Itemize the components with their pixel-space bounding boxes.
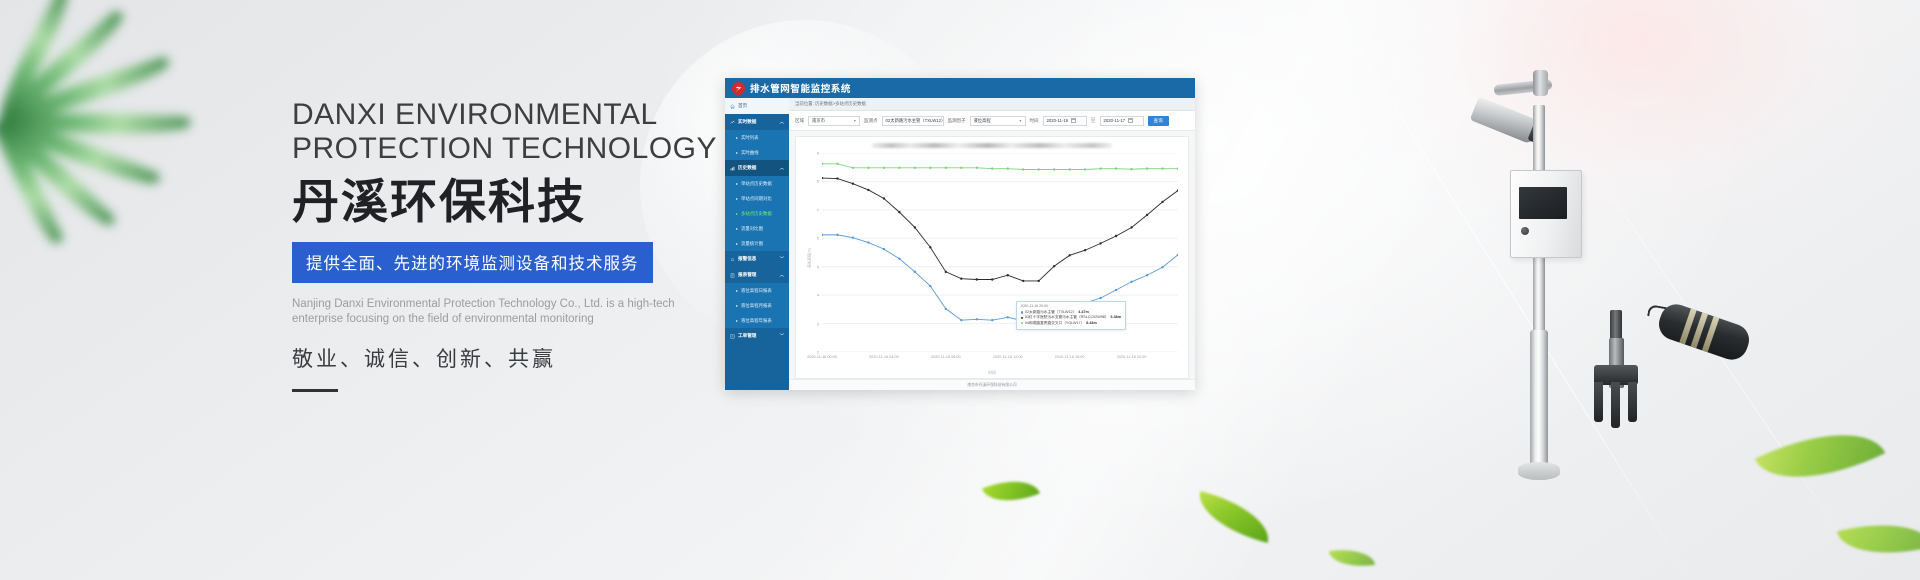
company-logo-icon [732,82,745,95]
chart-data-point [1161,266,1163,268]
chart-data-point [836,177,838,179]
chart-data-point [1068,254,1070,256]
series-color-dot [1021,311,1023,313]
sidebar-item-label: 多站点历史数据 [741,211,772,217]
sidebar-item-label: 流量统计图 [741,241,763,247]
bullet-icon [736,213,738,215]
mounting-pole-lower [1530,330,1548,480]
search-button[interactable]: 查询 [1148,116,1169,126]
chart-data-point [1177,167,1178,169]
chart-data-point [836,163,838,165]
chart-data-point [898,258,900,260]
app-footer: 南京市丹溪环保科技有限公司 [789,379,1195,390]
chart-data-point [867,189,869,191]
bullet-icon [736,243,738,245]
sidebar-group-label: 报警信息 [738,256,756,262]
chart-x-tick-label: 2020-11-16 00:00 [807,355,837,359]
bullet-icon [736,290,738,292]
cabinet-screen [1519,187,1567,219]
chart-x-axis-title: 时间 [988,371,996,376]
chevron-down-icon: ﹀ [780,256,784,262]
chart-tooltip: 2020-11-16 20:00 02太新路污水主管（TXLW12） 4.47m… [1016,301,1126,330]
chart-data-point [822,177,823,179]
sidebar-group-label: 报表管理 [738,272,756,278]
bullet-icon [736,152,738,154]
chart-y-tick-label: 5 [817,264,819,269]
chart-y-axis-title: 液位高程(m) [807,248,812,268]
chart-card: 液位高程(m) 时间 987654322020-11-16 00:002020-… [795,136,1189,379]
chart-series-line [822,164,1178,170]
chart-data-point [1130,226,1132,228]
app-header: 排水管网智能监控系统 [725,78,1195,98]
sidebar-item-flow-compare[interactable]: 流量对比图 [725,221,789,236]
sidebar-group-report[interactable]: 报表管理 ︿ [725,267,789,283]
sidebar-item-realtime-list[interactable]: 实时列表 [725,130,789,145]
series-color-dot [1021,322,1023,324]
sidebar-item-label: 首页 [738,103,747,109]
chart-data-point [1084,168,1086,170]
chart-data-point [1053,168,1055,170]
chevron-down-icon: ▾ [1019,118,1021,123]
tooltip-series-name: 04和燕路富贵路交叉口（YGLW17） [1025,321,1084,326]
hero-en-title-line1: DANXI ENVIRONMENTAL [292,98,712,132]
chart-data-point [976,167,978,169]
chart-y-tick-label: 2 [817,350,819,355]
sidebar: 首页 实时数据 ︿ 实时列表 实时曲线 [725,98,789,390]
chart-data-point [852,183,854,185]
hero-text-block: DANXI ENVIRONMENTAL PROTECTION TECHNOLOG… [292,98,712,392]
chart-data-point [1037,280,1039,282]
chart-data-point [1146,214,1148,216]
sidebar-item-label: 单站点同期对比 [741,196,772,202]
chart-y-tick-label: 9 [817,151,819,156]
calendar-icon [1128,118,1133,123]
date-start-input[interactable]: 2020-11-16 [1043,116,1087,126]
chart-series-line [822,178,1178,281]
chart-x-tick-label: 2020-11-16 20:00 [1117,355,1147,359]
chart-y-tick-label: 7 [817,207,819,212]
factor-label: 监测因子 [948,118,966,124]
date-separator: 至 [1091,117,1096,124]
chart-data-point [914,226,916,228]
multiparameter-probe-icon [1588,310,1644,430]
chart-data-point [945,308,947,310]
hero-cn-title: 丹溪环保科技 [292,174,712,230]
chart-data-point [1022,280,1024,282]
cabinet-knob [1521,227,1529,235]
chart-data-point [1007,274,1009,276]
level-sensor-icon [1655,300,1754,364]
sidebar-group-label: 工单管理 [738,333,756,339]
sidebar-item-single-site-compare[interactable]: 单站点同期对比 [725,191,789,206]
factor-select[interactable]: 液位高程 ▾ [970,116,1026,126]
chart-data-point [1146,167,1148,169]
chart-data-point [929,246,931,248]
chart-data-point [883,167,885,169]
chart-data-point [945,167,947,169]
sidebar-group-history[interactable]: 历史数据 ︿ [725,160,789,176]
sidebar-item-label: 流量对比图 [741,226,763,232]
chart-data-point [991,167,993,169]
breadcrumb: 当前位置: 历史数据>多站点历史数据 [789,98,1195,111]
region-select[interactable]: 南京市 ▾ [808,116,860,126]
chart-data-point [1053,265,1055,267]
chart-data-point [929,285,931,287]
sidebar-group-label: 实时数据 [738,119,756,125]
chevron-up-icon: ︿ [780,272,784,278]
chart-data-point [1037,168,1039,170]
chart-data-point [914,167,916,169]
chart-data-point [1099,167,1101,169]
chart-data-point [929,167,931,169]
tooltip-row: 04和燕路富贵路交叉口（YGLW17） 8.43m [1021,321,1121,326]
chart-data-point [1099,242,1101,244]
chart-data-point [1115,235,1117,237]
chart-data-point [898,167,900,169]
monitoring-equipment-photo [1480,30,1910,490]
hero-motto: 敬业、诚信、创新、共赢 [292,343,712,373]
sidebar-item-label: 液位高程年报表 [741,318,772,324]
monitoring-system-window: 排水管网智能监控系统 首页 实时数据 ︿ 实时列表 [725,78,1195,390]
sidebar-item-label: 液位高程日报表 [741,288,772,294]
calendar-icon [1071,118,1076,123]
chart-x-tick-label: 2020-11-16 08:00 [931,355,961,359]
sidebar-group-realtime[interactable]: 实时数据 ︿ [725,114,789,130]
time-label: 时间 [1030,118,1039,124]
chevron-down-icon: ▾ [854,118,856,123]
region-label: 区域 [795,118,804,124]
chart-data-point [1130,281,1132,283]
home-icon [730,104,735,109]
region-value: 南京市 [812,118,825,124]
chart-data-point [822,163,823,165]
control-cabinet-icon [1510,170,1582,258]
chevron-up-icon: ︿ [780,165,784,171]
realtime-icon [730,120,735,125]
chart-data-point [1007,316,1009,318]
bullet-icon [736,137,738,139]
pole-joint [1533,70,1548,96]
sidebar-item-home[interactable]: 首页 [725,98,789,114]
chart-data-point [883,248,885,250]
chevron-up-icon: ︿ [780,119,784,125]
filter-toolbar: 区域 南京市 ▾ 监测点 02太新路污水主管（TXLW12） 监测因子 液位高程… [789,111,1195,131]
sidebar-item-label: 实时曲线 [741,150,759,156]
chart-x-tick-label: 2020-11-16 04:00 [869,355,899,359]
chart-data-point [1161,201,1163,203]
chart-data-point [960,167,962,169]
chart-data-point [976,318,978,320]
sidebar-item-label: 液位高程月报表 [741,303,772,309]
chart-data-point [867,241,869,243]
chart-data-point [867,167,869,169]
site-select[interactable]: 02太新路污水主管（TXLW12） [882,116,944,126]
content-area: 当前位置: 历史数据>多站点历史数据 区域 南京市 ▾ 监测点 02太新路污水主… [789,98,1195,390]
chart-data-point [914,271,916,273]
chart-y-tick-label: 6 [817,236,819,241]
probe-finger [1611,382,1620,428]
bullet-icon [736,305,738,307]
chart-data-point [898,211,900,213]
bullet-icon [736,198,738,200]
chart-data-point [852,167,854,169]
probe-finger [1628,382,1637,422]
chart-data-point [852,237,854,239]
bamboo-leaf-decoration [0,0,270,290]
chart-y-tick-label: 8 [817,179,819,184]
sidebar-item-flow-statistics[interactable]: 流量统计图 [725,236,789,251]
app-title: 排水管网智能监控系统 [750,81,851,95]
chart-data-point [1007,167,1009,169]
chart-data-point [1115,289,1117,291]
cctv-camera-icon [1470,97,1541,145]
chart-data-point [836,234,838,236]
chart-data-point [1161,167,1163,169]
site-value: 02太新路污水主管（TXLW12） [886,118,944,124]
chart-data-point [1115,167,1117,169]
series-color-dot [1021,317,1023,319]
sidebar-group-alarm[interactable]: 报警信息 ﹀ [725,251,789,267]
bullet-icon [736,183,738,185]
chart-y-tick-label: 3 [817,321,819,326]
sidebar-item-single-site-history[interactable]: 单站点历史数据 [725,176,789,191]
chart-data-point [1099,297,1101,299]
date-end-input[interactable]: 2020-11-17 [1100,116,1144,126]
chart-data-point [960,277,962,279]
sidebar-item-realtime-curve[interactable]: 实时曲线 [725,145,789,160]
chart-data-point [960,319,962,321]
site-label: 监测点 [864,118,878,124]
bell-icon [730,257,735,262]
date-start-value: 2020-11-16 [1047,118,1069,123]
history-chart-icon [730,166,735,171]
chart-legend [872,143,1112,148]
sidebar-group-worksheet[interactable]: 工单管理 ﹀ [725,328,789,344]
chart-data-point [822,234,823,236]
chart-data-point [883,197,885,199]
hero-tagline-banner: 提供全面、先进的环境监测设备和技术服务 [292,242,653,283]
date-end-value: 2020-11-17 [1104,118,1126,123]
sidebar-item-multi-site-history[interactable]: 多站点历史数据 [725,206,789,221]
chart-x-tick-label: 2020-11-16 16:00 [1055,355,1085,359]
chart-data-point [991,319,993,321]
factor-value: 液位高程 [974,118,991,124]
hero-en-title-line2: PROTECTION TECHNOLOGY [292,132,712,166]
report-icon [730,273,735,278]
sidebar-item-level-monthly-report[interactable]: 液位高程月报表 [725,298,789,313]
sidebar-item-level-daily-report[interactable]: 液位高程日报表 [725,283,789,298]
tooltip-series-value: 6.38m [1111,315,1121,320]
chart-x-tick-label: 2020-11-16 12:00 [993,355,1023,359]
sidebar-item-label: 单站点历史数据 [741,181,772,187]
hero-divider-rule [292,389,338,392]
tooltip-series-value: 8.43m [1086,321,1096,326]
chart-data-point [976,278,978,280]
sidebar-item-level-yearly-report[interactable]: 液位高程年报表 [725,313,789,328]
bullet-icon [736,228,738,230]
chart-data-point [1084,249,1086,251]
chart-data-point [1022,168,1024,170]
sidebar-group-label: 历史数据 [738,165,756,171]
chevron-down-icon: ﹀ [780,333,784,339]
chart-data-point [1130,168,1132,170]
pole-base [1518,462,1560,480]
chart-data-point [1146,274,1148,276]
hero-description: Nanjing Danxi Environmental Protection T… [292,297,684,327]
chart-data-point [991,278,993,280]
chart-data-point [945,271,947,273]
bullet-icon [736,320,738,322]
chart-y-tick-label: 4 [817,293,819,298]
worksheet-icon [730,334,735,339]
probe-finger [1594,382,1603,422]
chart-data-point [1068,168,1070,170]
sidebar-item-label: 实时列表 [741,135,759,141]
